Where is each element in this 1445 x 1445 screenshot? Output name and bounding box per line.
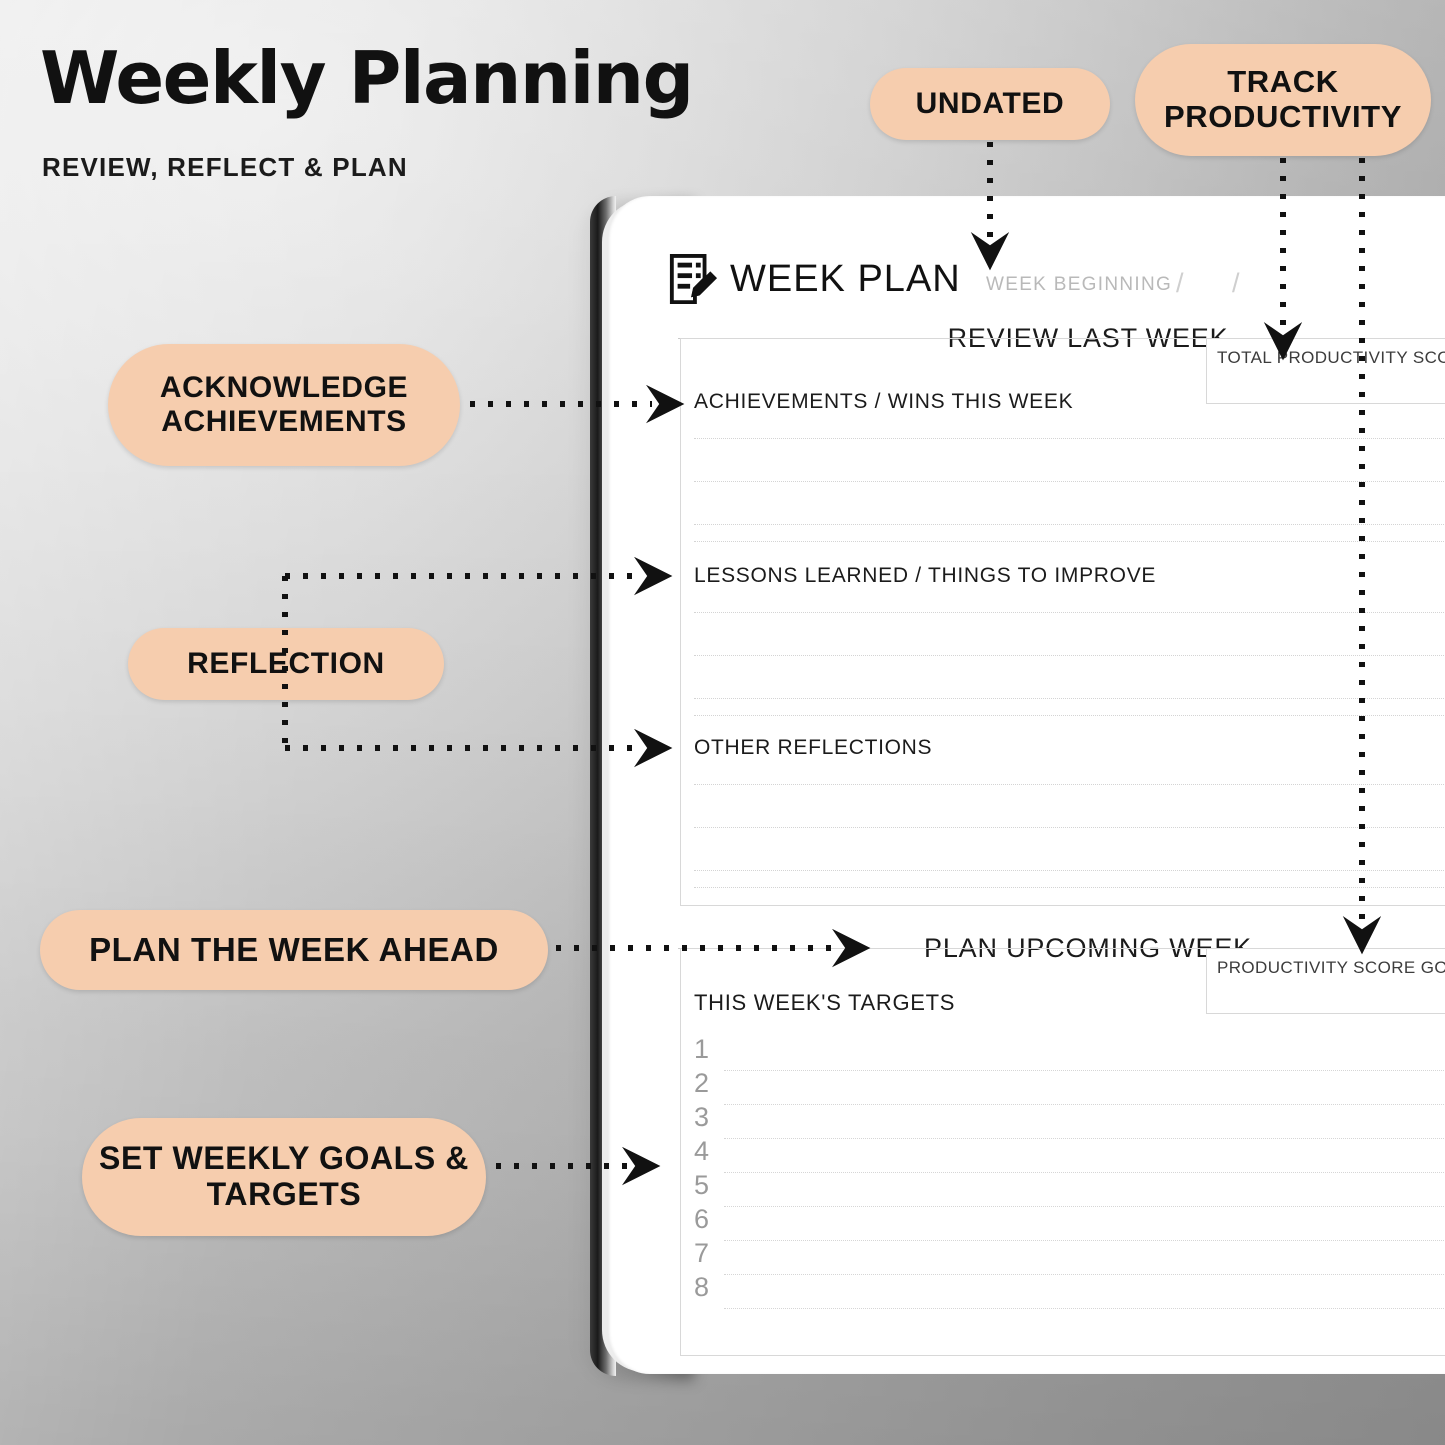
target-number: 1 xyxy=(694,1034,709,1065)
total-productivity-score-box[interactable]: TOTAL PRODUCTIVITY SCORE: xyxy=(1206,338,1445,404)
total-productivity-score-label: TOTAL PRODUCTIVITY SCORE: xyxy=(1217,348,1445,368)
writing-line[interactable] xyxy=(694,698,1445,699)
field-label-achievements: ACHIEVEMENTS / WINS THIS WEEK xyxy=(694,390,1073,414)
writing-line[interactable] xyxy=(694,438,1445,439)
target-line[interactable] xyxy=(724,1240,1445,1241)
target-line[interactable] xyxy=(724,1172,1445,1173)
badge-undated: UNDATED xyxy=(870,68,1110,140)
page-title: Weekly Planning xyxy=(40,42,693,114)
writing-line[interactable] xyxy=(694,481,1445,482)
field-label-other-reflections: OTHER REFLECTIONS xyxy=(694,736,932,760)
target-number: 2 xyxy=(694,1068,709,1099)
target-number: 5 xyxy=(694,1170,709,1201)
week-plan-sheet: WEEK PLAN WEEK BEGINNING / / REVIEW LAST… xyxy=(608,196,1445,1374)
target-line[interactable] xyxy=(724,1308,1445,1309)
target-line[interactable] xyxy=(724,1070,1445,1071)
page-subtitle: REVIEW, REFLECT & PLAN xyxy=(42,152,408,183)
notebook-page: WEEK PLAN WEEK BEGINNING / / REVIEW LAST… xyxy=(608,196,1445,1374)
target-line[interactable] xyxy=(724,1274,1445,1275)
writing-line[interactable] xyxy=(694,524,1445,525)
field-label-lessons-learned: LESSONS LEARNED / THINGS TO IMPROVE xyxy=(694,564,1156,588)
writing-line[interactable] xyxy=(694,887,1445,888)
field-label-this-weeks-targets: THIS WEEK'S TARGETS xyxy=(694,990,955,1016)
date-separator-1: / xyxy=(1176,268,1184,299)
review-panel xyxy=(680,338,1445,906)
badge-set-weekly-goals-targets: SET WEEKLY GOALS & TARGETS xyxy=(82,1118,486,1236)
writing-line[interactable] xyxy=(694,612,1445,613)
target-number: 6 xyxy=(694,1204,709,1235)
writing-line[interactable] xyxy=(694,870,1445,871)
writing-line[interactable] xyxy=(694,715,1445,716)
target-number: 3 xyxy=(694,1102,709,1133)
productivity-score-goal-label: PRODUCTIVITY SCORE GOAL: xyxy=(1217,958,1445,978)
writing-line[interactable] xyxy=(694,784,1445,785)
productivity-score-goal-box[interactable]: PRODUCTIVITY SCORE GOAL: xyxy=(1206,948,1445,1014)
writing-line[interactable] xyxy=(694,541,1445,542)
notebook-mockup: WEEK PLAN WEEK BEGINNING / / REVIEW LAST… xyxy=(590,196,1445,1376)
badge-acknowledge-achievements: ACKNOWLEDGE ACHIEVEMENTS xyxy=(108,344,460,466)
date-separator-2: / xyxy=(1232,268,1240,299)
writing-line[interactable] xyxy=(694,655,1445,656)
clipboard-pencil-icon xyxy=(668,254,718,306)
target-number: 4 xyxy=(694,1136,709,1167)
week-plan-title: WEEK PLAN xyxy=(730,258,961,301)
badge-reflection: REFLECTION xyxy=(128,628,444,700)
target-line[interactable] xyxy=(724,1138,1445,1139)
target-line[interactable] xyxy=(724,1206,1445,1207)
target-number: 8 xyxy=(694,1272,709,1303)
badge-plan-the-week-ahead: PLAN THE WEEK AHEAD xyxy=(40,910,548,990)
promo-graphic: Weekly Planning REVIEW, REFLECT & PLAN U… xyxy=(0,0,1445,1445)
badge-track-productivity: TRACK PRODUCTIVITY xyxy=(1135,44,1431,156)
target-number: 7 xyxy=(694,1238,709,1269)
target-line[interactable] xyxy=(724,1104,1445,1105)
writing-line[interactable] xyxy=(694,827,1445,828)
week-beginning-label: WEEK BEGINNING xyxy=(986,274,1172,296)
